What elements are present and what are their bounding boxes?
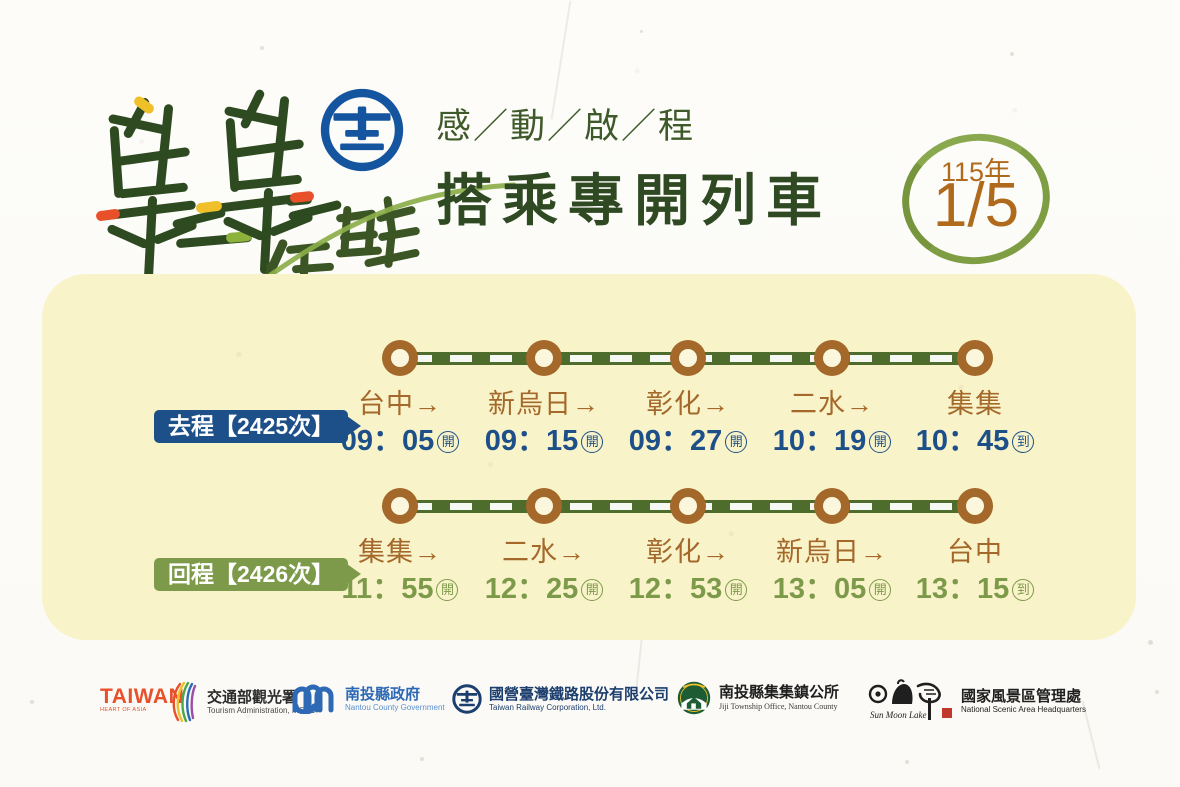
logo-label-en: Jiji Township Office, Nantou County xyxy=(719,702,839,712)
tra-roundel-icon xyxy=(320,88,404,172)
sun-moon-lake-icon: Sun Moon Lake xyxy=(868,678,954,724)
time-value: 11：55 xyxy=(342,573,434,605)
station-dot xyxy=(382,340,418,376)
depart-arrive-mark: 到 xyxy=(1012,579,1034,601)
time-value: 10：19 xyxy=(773,425,867,457)
station-dot xyxy=(670,340,706,376)
station-dot xyxy=(526,340,562,376)
logo-label-en: Nantou County Government xyxy=(345,703,445,713)
logo-jiji-township: 南投縣集集鎮公所 Jiji Township Office, Nantou Co… xyxy=(676,680,839,716)
nantou-county-icon xyxy=(292,684,338,714)
tourism-administration-icon xyxy=(168,680,200,724)
paper-fleck xyxy=(1148,640,1153,645)
station-dot xyxy=(814,488,850,524)
poster-title: 搭乘專開列車 xyxy=(436,156,832,237)
logo-nantou-county: 南投縣政府 Nantou County Government xyxy=(292,684,445,714)
time-value: 12：25 xyxy=(485,573,579,605)
logo-taiwan-railway: 國營臺灣鐵路股份有限公司 Taiwan Railway Corporation,… xyxy=(452,684,669,714)
date-day: 1/5 xyxy=(902,175,1050,237)
timetable-card: 去程【2425次】 台中→ 新烏日→ 彰化→ 二水→ 集集 09：05開 09：… xyxy=(42,274,1136,640)
svg-text:Sun Moon Lake: Sun Moon Lake xyxy=(870,710,927,720)
paper-fleck xyxy=(420,757,424,761)
station-name: 集集 xyxy=(875,382,1075,421)
date-badge: 115年 1/5 xyxy=(902,134,1050,264)
tra-roundel-icon xyxy=(452,684,482,714)
time-value: 13：05 xyxy=(773,573,867,605)
station-time: 13：15到 xyxy=(875,565,1075,607)
logo-label-zh: 國家風景區管理處 xyxy=(961,688,1086,705)
station-time: 10：45到 xyxy=(875,417,1075,459)
time-value: 09：05 xyxy=(341,425,435,457)
station-dot xyxy=(814,340,850,376)
time-value: 13：15 xyxy=(916,573,1010,605)
depart-arrive-mark: 到 xyxy=(1012,431,1034,453)
station-dot xyxy=(526,488,562,524)
route-return: 回程【2426次】 集集→ 二水→ 彰化→ 新烏日→ 台中 11：55開 12：… xyxy=(42,454,1136,594)
footer-logos: TAIWAN HEART OF ASIA 交通部觀光署 Tourism Admi… xyxy=(0,668,1180,738)
logo-label-zh: 國營臺灣鐵路股份有限公司 xyxy=(489,686,669,703)
station-dot xyxy=(957,488,993,524)
route-outbound: 去程【2425次】 台中→ 新烏日→ 彰化→ 二水→ 集集 09：05開 09：… xyxy=(42,306,1136,446)
logo-label-en: Taiwan Railway Corporation, Ltd. xyxy=(489,703,669,713)
station-dot xyxy=(957,340,993,376)
time-value: 09：15 xyxy=(485,425,579,457)
poster-header: 感／動／啟／程 搭乘專開列車 115年 1/5 xyxy=(0,0,1180,268)
station-dot xyxy=(382,488,418,524)
station-name: 台中 xyxy=(875,530,1075,569)
poster-subtitle: 感／動／啟／程 xyxy=(436,98,695,149)
logo-sun-moon-lake: Sun Moon Lake 國家風景區管理處 National Scenic A… xyxy=(868,678,1086,724)
time-value: 09：27 xyxy=(629,425,723,457)
poster-root: 感／動／啟／程 搭乘專開列車 115年 1/5 去程【2425次】 台中→ 新烏… xyxy=(0,0,1180,787)
logo-label-en: National Scenic Area Headquarters xyxy=(961,705,1086,715)
time-value: 12：53 xyxy=(629,573,723,605)
paper-fleck xyxy=(905,760,909,764)
time-value: 10：45 xyxy=(916,425,1010,457)
logo-label-zh: 南投縣集集鎮公所 xyxy=(719,685,839,702)
logo-label-zh: 南投縣政府 xyxy=(345,686,445,703)
station-dot xyxy=(670,488,706,524)
jiji-township-crest-icon xyxy=(676,680,712,716)
